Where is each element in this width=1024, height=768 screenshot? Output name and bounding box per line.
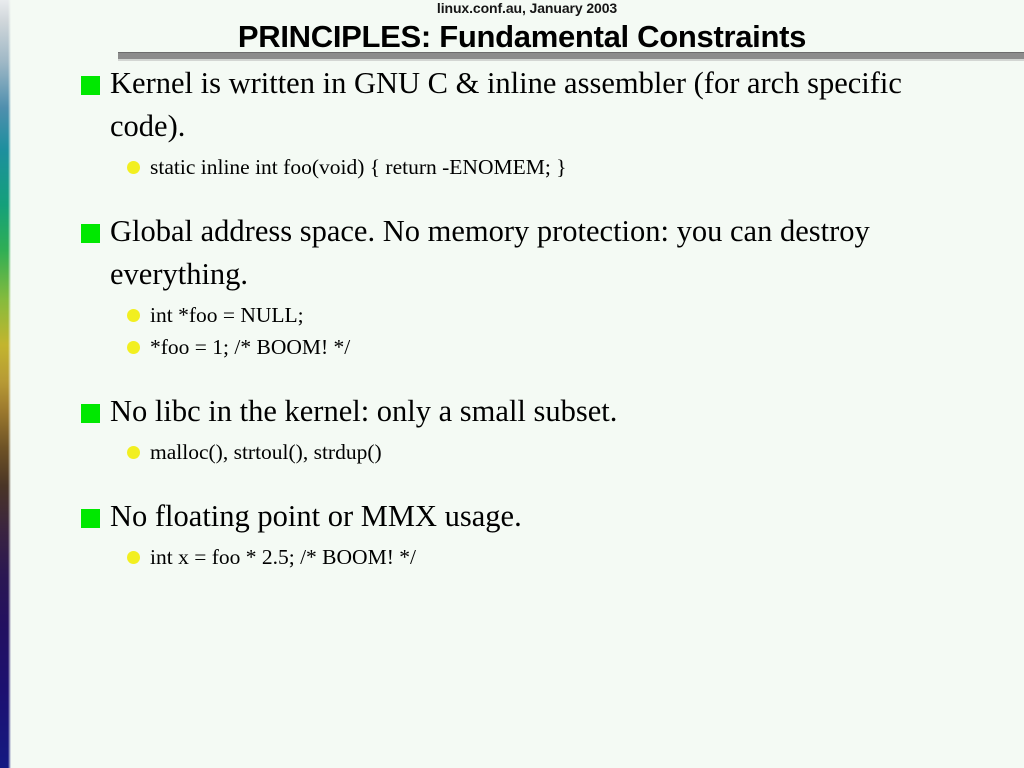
conference-header: linux.conf.au, January 2003 [0,0,1024,16]
bullet-block: No floating point or MMX usage. int x = … [0,495,1024,573]
sub-bullet-text: *foo = 1; /* BOOM! */ [150,335,350,359]
sub-bullet-item: int x = foo * 2.5; /* BOOM! */ [0,541,1024,573]
green-square-bullet-icon [81,509,100,528]
title-underline-rule [118,52,1024,59]
sub-bullet-item: int *foo = NULL; [0,299,1024,331]
bullet-item: No floating point or MMX usage. [0,495,1024,538]
yellow-dot-bullet-icon [127,446,140,459]
yellow-dot-bullet-icon [127,341,140,354]
sub-bullet-item: malloc(), strtoul(), strdup() [0,436,1024,468]
green-square-bullet-icon [81,76,100,95]
bullet-text: No libc in the kernel: only a small subs… [110,394,617,428]
bullet-block: Kernel is written in GNU C & inline asse… [0,62,1024,183]
sub-bullet-item: static inline int foo(void) { return -EN… [0,151,1024,183]
bullet-text: Kernel is written in GNU C & inline asse… [110,66,902,143]
yellow-dot-bullet-icon [127,551,140,564]
bullet-block: Global address space. No memory protecti… [0,210,1024,363]
sub-bullet-text: static inline int foo(void) { return -EN… [150,155,567,179]
green-square-bullet-icon [81,404,100,423]
title-underline-shadow [118,59,1024,61]
sub-bullet-text: int *foo = NULL; [150,303,304,327]
sub-bullet-text: int x = foo * 2.5; /* BOOM! */ [150,545,416,569]
page-title: PRINCIPLES: Fundamental Constraints [0,19,1024,55]
bullet-item: Global address space. No memory protecti… [0,210,1024,296]
sub-bullet-text: malloc(), strtoul(), strdup() [150,440,382,464]
bullet-block: No libc in the kernel: only a small subs… [0,390,1024,468]
yellow-dot-bullet-icon [127,309,140,322]
bullet-text: Global address space. No memory protecti… [110,214,870,291]
bullet-item: Kernel is written in GNU C & inline asse… [0,62,1024,148]
yellow-dot-bullet-icon [127,161,140,174]
sub-bullet-item: *foo = 1; /* BOOM! */ [0,331,1024,363]
slide-body: Kernel is written in GNU C & inline asse… [0,62,1024,573]
presentation-slide: linux.conf.au, January 2003 PRINCIPLES: … [0,0,1024,768]
bullet-text: No floating point or MMX usage. [110,499,522,533]
bullet-item: No libc in the kernel: only a small subs… [0,390,1024,433]
green-square-bullet-icon [81,224,100,243]
